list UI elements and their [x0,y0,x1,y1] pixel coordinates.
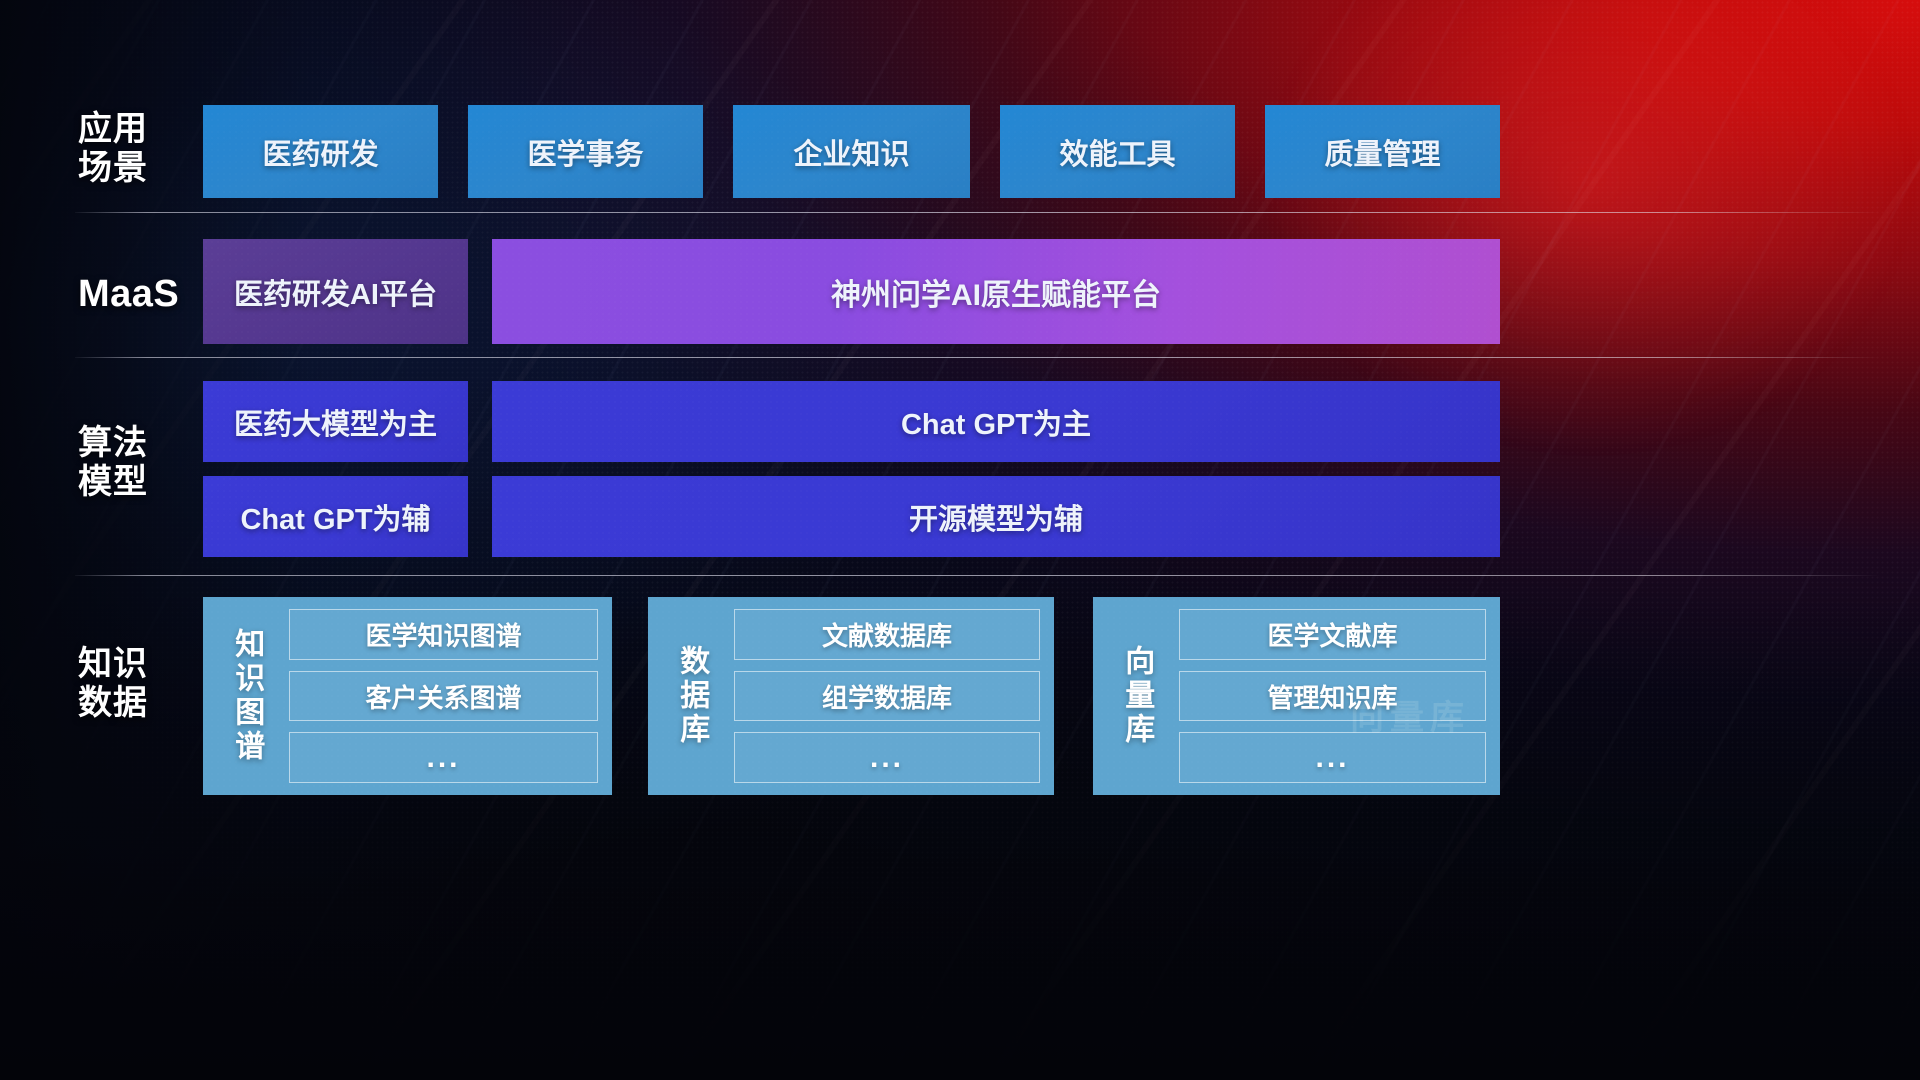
knowledge-group-graph[interactable]: 知识图谱 医学知识图谱 客户关系图谱 ... [203,597,612,795]
knowledge-group-database[interactable]: 数据库 文献数据库 组学数据库 ... [648,597,1054,795]
row-label-application-scenarios: 应用 场景 [78,110,218,189]
divider-algorithm-knowledge [75,575,1880,576]
app-card-quality-management[interactable]: 质量管理 [1265,105,1500,198]
app-card-label: 医药研发 [262,131,378,173]
knowledge-group-title: 知识图谱 [215,609,277,783]
app-card-pharma-rd[interactable]: 医药研发 [203,105,438,198]
knowledge-item-label: ... [1315,741,1349,775]
knowledge-item[interactable]: 文献数据库 [734,609,1040,660]
divider-application-maas [75,212,1880,213]
app-card-label: 质量管理 [1324,131,1440,173]
algo-card-label: 医药大模型为主 [234,401,437,443]
knowledge-item-label: ... [870,741,904,775]
knowledge-item-label: 管理知识库 [1267,678,1397,715]
app-card-label: 医学事务 [527,131,643,173]
app-card-label: 效能工具 [1059,131,1175,173]
knowledge-item-label: 客户关系图谱 [365,678,521,715]
knowledge-item-label: ... [426,741,460,775]
app-card-medical-affairs[interactable]: 医学事务 [468,105,703,198]
algo-card-chatgpt-secondary[interactable]: Chat GPT为辅 [203,476,468,557]
row-label-maas: MaaS [78,272,218,316]
algo-card-label: Chat GPT为主 [901,401,1091,443]
divider-maas-algorithm [75,357,1880,358]
maas-card-pharma-ai-platform[interactable]: 医药研发AI平台 [203,239,468,344]
maas-card-shenzhou-wenxue-platform[interactable]: 神州问学AI原生赋能平台 [492,239,1500,344]
app-card-label: 企业知识 [793,131,909,173]
knowledge-group-items: 医学知识图谱 客户关系图谱 ... [289,609,598,783]
app-card-enterprise-knowledge[interactable]: 企业知识 [733,105,970,198]
architecture-diagram: 应用 场景 医药研发 医学事务 企业知识 效能工具 质量管理 MaaS 医药研发… [0,0,1920,1080]
algo-card-opensource-secondary[interactable]: 开源模型为辅 [492,476,1500,557]
knowledge-item-more[interactable]: ... [289,732,598,783]
knowledge-item-label: 医学文献库 [1267,616,1397,653]
app-card-efficiency-tools[interactable]: 效能工具 [1000,105,1235,198]
knowledge-item-label: 医学知识图谱 [365,616,521,653]
knowledge-item-label: 文献数据库 [822,616,952,653]
knowledge-group-title: 数据库 [660,609,722,783]
knowledge-item-label: 组学数据库 [822,678,952,715]
row-label-knowledge-data: 知识 数据 [78,645,218,724]
maas-card-label: 医药研发AI平台 [234,271,437,313]
row-label-algorithm-model: 算法 模型 [78,424,218,503]
slide-canvas: 应用 场景 医药研发 医学事务 企业知识 效能工具 质量管理 MaaS 医药研发… [0,0,1920,1080]
knowledge-item-more[interactable]: ... [734,732,1040,783]
knowledge-item[interactable]: 管理知识库 [1179,671,1486,722]
algo-card-label: 开源模型为辅 [909,496,1083,538]
knowledge-group-vector-store[interactable]: 向量库 向量库 医学文献库 管理知识库 ... [1093,597,1500,795]
knowledge-item[interactable]: 客户关系图谱 [289,671,598,722]
maas-card-label: 神州问学AI原生赋能平台 [831,270,1161,314]
knowledge-item[interactable]: 组学数据库 [734,671,1040,722]
knowledge-item[interactable]: 医学文献库 [1179,609,1486,660]
knowledge-group-items: 医学文献库 管理知识库 ... [1179,609,1486,783]
algo-card-label: Chat GPT为辅 [240,496,430,538]
algo-card-chatgpt-primary[interactable]: Chat GPT为主 [492,381,1500,462]
knowledge-group-title: 向量库 [1105,609,1167,783]
knowledge-item-more[interactable]: ... [1179,732,1486,783]
knowledge-item[interactable]: 医学知识图谱 [289,609,598,660]
algo-card-pharma-llm-primary[interactable]: 医药大模型为主 [203,381,468,462]
knowledge-group-items: 文献数据库 组学数据库 ... [734,609,1040,783]
